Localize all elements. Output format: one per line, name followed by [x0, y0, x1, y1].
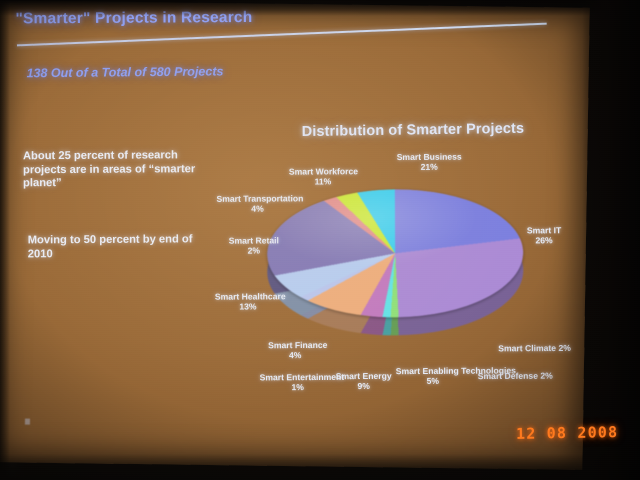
pie-label-value: 1%	[291, 382, 303, 392]
pie-label-smart-transportation: Smart Transportation 4%	[216, 193, 298, 214]
presentation-slide: "Smarter" Projects in Research 138 Out o…	[0, 0, 590, 470]
pie-label-text: Smart Workforce	[289, 166, 358, 176]
screen-artifact	[25, 419, 30, 425]
pie-label-value: 13%	[239, 302, 256, 312]
pie-label-value: 26%	[535, 235, 552, 245]
pie-label-smart-entertainment: Smart Entertainment 1%	[260, 372, 336, 393]
pie-label-smart-healthcare: Smart Healthcare 13%	[215, 291, 281, 312]
camera-datestamp: 12 08 2008	[516, 423, 619, 443]
pie-label-text: Smart Retail	[229, 235, 279, 245]
bullet-text-2: Moving to 50 percent by end of 2010	[28, 233, 213, 261]
pie-label-text: Smart Climate	[498, 343, 556, 353]
pie-label-smart-it: Smart IT 26%	[514, 225, 574, 246]
pie-label-value: 11%	[315, 177, 332, 187]
pie-label-smart-climate: Smart Climate 2%	[498, 343, 560, 354]
pie-label-text: Smart Business	[397, 152, 462, 162]
screen-bottom-shadow	[0, 454, 640, 480]
projection-screen: "Smarter" Projects in Research 138 Out o…	[0, 0, 590, 470]
pie-label-text: Smart Finance	[268, 340, 327, 350]
pie-label-value: 2%	[540, 371, 552, 381]
pie-label-text: Smart Entertainment	[260, 372, 345, 383]
pie-label-value: 4%	[289, 350, 301, 360]
pie-label-smart-enabling-technologies: Smart Enabling Technologies 5%	[396, 366, 470, 387]
slide-subtitle: 138 Out of a Total of 580 Projects	[27, 63, 357, 80]
pie-label-value: 2%	[248, 246, 260, 256]
screen-right-shadow	[582, 0, 640, 480]
pie-label-smart-business: Smart Business 21%	[393, 152, 465, 173]
pie-label-value: 4%	[251, 204, 263, 214]
screen-top-shadow	[0, 0, 640, 16]
pie-label-text: Smart Healthcare	[215, 291, 286, 301]
pie-label-text: Smart Enabling Technologies	[396, 365, 516, 376]
pie-label-smart-retail: Smart Retail 2%	[226, 235, 282, 256]
pie-label-value: 5%	[427, 376, 439, 386]
bullet-text-1: About 25 percent of research projects ar…	[23, 149, 203, 191]
pie-label-value: 21%	[421, 162, 438, 172]
pie-label-value: 9%	[357, 381, 369, 391]
screen-left-shadow	[0, 0, 10, 480]
pie-label-text: Smart IT	[527, 225, 561, 235]
photographed-slide: "Smarter" Projects in Research 138 Out o…	[0, 0, 640, 480]
pie-label-value: 2%	[558, 343, 570, 353]
pie-label-smart-workforce: Smart Workforce 11%	[289, 166, 357, 187]
chart-title: Distribution of Smarter Projects	[302, 120, 582, 140]
pie-label-text: Smart Transportation	[216, 193, 303, 204]
pie-label-smart-finance: Smart Finance 4%	[268, 340, 322, 361]
